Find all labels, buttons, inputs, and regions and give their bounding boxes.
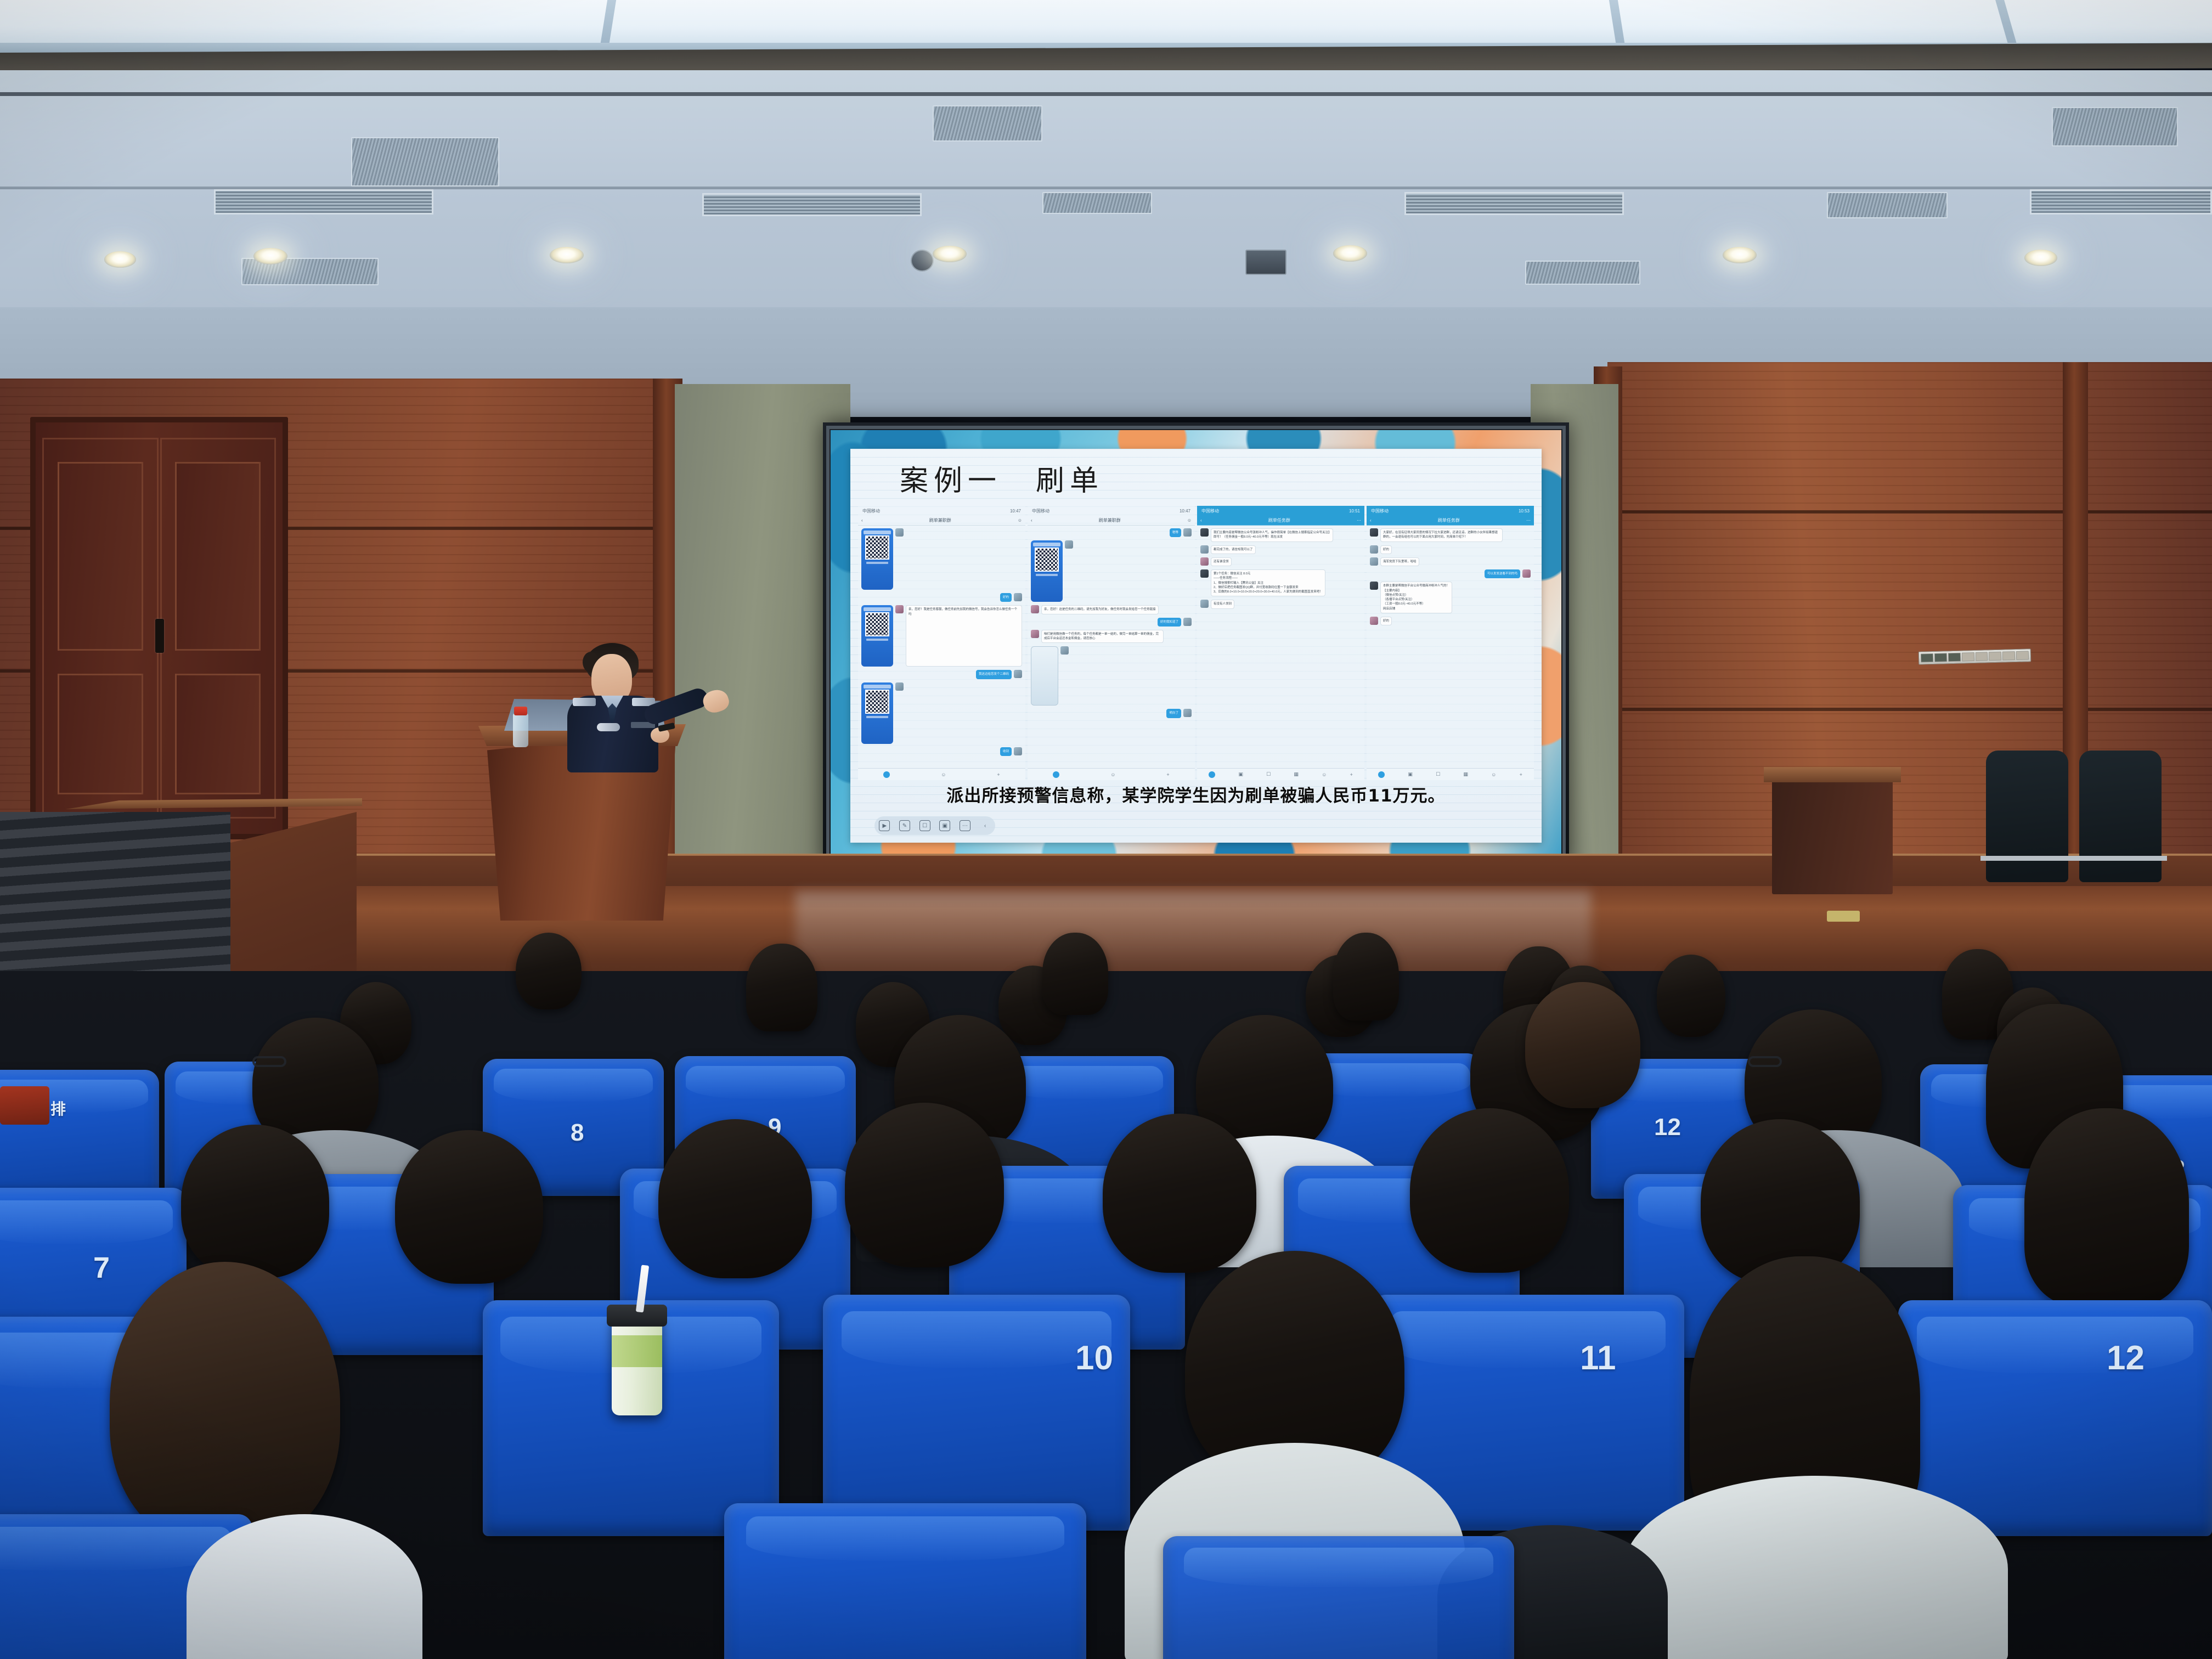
door-panel — [58, 462, 143, 651]
chat-message: 收到 — [861, 747, 1022, 756]
chair-base — [1980, 856, 2074, 861]
stage-chair — [2079, 751, 2162, 882]
door-panel — [175, 674, 261, 794]
chat-input-toolbar[interactable]: ☺ + — [858, 768, 1025, 780]
pen-icon[interactable]: ✎ — [899, 820, 910, 831]
avatar — [1200, 569, 1209, 578]
avatar — [1183, 709, 1192, 717]
hvac-vent — [1042, 192, 1152, 214]
chat-bubble: 本群主要是帮微信平台公众号微商冲粉冲人气的！ 【主要内容】 （微信点赞/关注） … — [1380, 582, 1452, 613]
audience-head — [1410, 1108, 1569, 1273]
chat-bubble: 收到 — [1000, 747, 1012, 756]
chat-bubble: 好的 — [1380, 545, 1392, 554]
audience-head — [1525, 982, 1640, 1108]
ceiling-speaker — [1245, 250, 1286, 275]
phone-status-bar: 中国移动 10:53 — [1367, 506, 1534, 516]
auditorium-seat[interactable] — [724, 1503, 1086, 1659]
avatar — [1065, 540, 1073, 549]
emoji-icon[interactable]: ☺ — [1491, 772, 1496, 777]
chat-message-list: 我们主要内容是帮微信公众号涨粉冲人气，操作很简单【在微信上搜索指定公众号关注】即… — [1197, 526, 1364, 768]
chat-title: 刷单任务群 — [1268, 517, 1290, 523]
carrier-label: 中国移动 — [1032, 508, 1049, 514]
chat-message-list: 稍等 亲，您好！这是任务的二维码，请先加我为好友，做任务时我会发给您一个任务链接 — [1028, 526, 1195, 768]
audience-head — [1333, 933, 1399, 1020]
avatar — [1183, 618, 1192, 626]
switch-key[interactable] — [2002, 651, 2015, 661]
slide-content-card: 案例一 刷单 中国移动 10:47 ‹ 刷单兼职群 ☺ — [850, 449, 1542, 843]
chat-nav-bar: ‹ 刷单兼职群 ☺ — [858, 516, 1025, 526]
aisle-steps — [0, 812, 230, 988]
image-icon[interactable]: ▣ — [1238, 771, 1243, 777]
chat-message: 有没有人领到 — [1200, 600, 1361, 608]
video-icon[interactable]: ▣ — [939, 820, 950, 831]
door-handle[interactable] — [155, 619, 164, 653]
slide-title: 案例一 刷单 — [900, 458, 1104, 499]
chair-base — [2074, 856, 2167, 861]
avatar — [1031, 605, 1039, 613]
avatar — [895, 528, 904, 537]
avatar — [1200, 557, 1209, 566]
play-icon[interactable]: ▶ — [879, 820, 890, 831]
clock-label: 10:47 — [1010, 509, 1021, 513]
chat-input-toolbar[interactable]: ▣ ☐ ▦ ☺ + — [1367, 768, 1534, 780]
chat-bubble: 还有谁没领 — [1211, 557, 1232, 566]
hvac-vent — [1827, 192, 1948, 218]
avatar — [1370, 582, 1378, 590]
ceiling-reveal — [0, 92, 2212, 96]
lecture-hall-scene: 案例一 刷单 中国移动 10:47 ‹ 刷单兼职群 ☺ — [0, 0, 2212, 1659]
chat-message: 好的 — [861, 593, 1022, 602]
avatar — [1200, 600, 1209, 608]
skylight — [0, 0, 2212, 49]
emoji-icon[interactable]: ☺ — [1322, 772, 1327, 777]
chat-title: 刷单任务群 — [1438, 517, 1460, 523]
speaker-police-officer — [549, 625, 691, 768]
audience-head — [181, 1125, 329, 1278]
chat-message: 我们主要内容是帮微信公众号涨粉冲人气，操作很简单【在微信上搜索指定公众号关注】即… — [1200, 528, 1361, 542]
chat-bubble: 我们主要内容是帮微信公众号涨粉冲人气，操作很简单【在微信上搜索指定公众号关注】即… — [1211, 528, 1333, 542]
audience-head — [658, 1119, 812, 1278]
chat-bubble: 好的我知道了 — [1158, 618, 1181, 627]
hvac-return-grille — [214, 189, 433, 215]
plus-icon[interactable]: + — [997, 772, 1000, 777]
chat-screenshot-panel: 中国移动 10:51 ‹ 刷单任务群 ⋯ 我们主要内容是帮微信公众号涨粉冲人气，… — [1197, 506, 1364, 780]
chat-bubble: 好的 — [1380, 617, 1392, 625]
chat-message: 海军党员下队里呀，哈哈 — [1370, 557, 1531, 566]
redpacket-icon[interactable]: ☐ — [1436, 771, 1440, 777]
switch-key[interactable] — [1948, 653, 1961, 662]
cup-label — [612, 1335, 662, 1367]
auditorium-seat[interactable] — [1163, 1536, 1514, 1659]
clock-label: 10:47 — [1180, 509, 1190, 513]
door-leaf-left — [42, 438, 159, 819]
chat-screenshot-panel: 中国移动 10:47 ‹ 刷单兼职群 ☺ 稍等 — [1028, 506, 1195, 780]
emoji-icon[interactable]: ☺ — [1110, 772, 1115, 777]
chat-bubble: 亲，您好！这是任务的二维码，请先加我为好友，做任务时我会发给您一个任务链接 — [1041, 605, 1159, 614]
phone-status-bar: 中国移动 10:47 — [1028, 506, 1195, 516]
chat-nav-bar: ‹ 刷单兼职群 ☺ — [1028, 516, 1195, 526]
redpacket-icon[interactable]: ☐ — [1266, 771, 1271, 777]
side-console-top — [1764, 767, 1901, 782]
ceiling-sprinkler — [911, 250, 934, 272]
more-icon[interactable]: ⋯ — [960, 820, 970, 831]
plus-icon[interactable]: + — [1520, 772, 1522, 777]
chat-title: 刷单兼职群 — [1099, 517, 1121, 523]
avatar — [1200, 545, 1209, 554]
wall-seam — [1607, 510, 2212, 513]
chat-message: 好的 — [1370, 545, 1531, 554]
chat-nav-bar: ‹ 刷单任务群 ⋯ — [1367, 516, 1534, 526]
mic-icon[interactable] — [1378, 771, 1385, 778]
chat-nav-bar: ‹ 刷单任务群 ⋯ — [1197, 516, 1364, 526]
chat-message-list: 好的 亲，您好！我是任务客服，做任务前先加我的微信号，我会告诉你怎么做任务一个吗… — [858, 526, 1025, 768]
switch-key[interactable] — [1921, 653, 1933, 663]
avatar — [1060, 646, 1069, 654]
chat-message: 好的我知道了 — [1031, 618, 1192, 627]
hvac-vent — [933, 105, 1042, 142]
qr-code-card — [861, 682, 893, 744]
back-icon[interactable]: ‹ — [861, 518, 863, 523]
qr-code-image — [865, 612, 889, 636]
clock-label: 10:53 — [1519, 509, 1530, 513]
auditorium-door[interactable] — [30, 417, 288, 839]
chat-message: 都完成了的，请告知我可以了 — [1200, 545, 1361, 554]
switch-key[interactable] — [2016, 651, 2029, 660]
phone-status-bar: 中国移动 10:51 — [1197, 506, 1364, 516]
slide-caption: 派出所接预警信息称，某学院学生因为刷单被骗人民币11万元。 — [850, 782, 1542, 806]
chat-input-toolbar[interactable]: ☺ + — [1028, 768, 1195, 780]
downlight — [2024, 250, 2057, 266]
water-bottle — [513, 713, 528, 747]
floor-debris — [1827, 911, 1860, 922]
door-panel — [58, 674, 143, 794]
chat-message: 大家好，在没有征得大家同意的情况下拉大家进群，还请见谅。进群的小伙伴如果想退群的… — [1370, 528, 1531, 542]
hvac-return-grille — [1404, 192, 1624, 215]
seat-number: 11 — [1580, 1339, 1616, 1378]
hvac-vent — [2052, 107, 2178, 146]
audience-head — [746, 944, 817, 1031]
seat-number: 7 — [93, 1251, 110, 1285]
chat-screenshot-panel: 中国移动 10:53 ‹ 刷单任务群 ⋯ 大家好，在没有征得大家同意的情况下拉大… — [1367, 506, 1534, 780]
stage-chair — [1986, 751, 2068, 882]
mic-icon[interactable] — [1053, 771, 1059, 778]
back-icon[interactable]: ‹ — [1370, 518, 1372, 523]
chat-message: 稍等 — [1031, 528, 1192, 537]
image-icon[interactable]: ▣ — [1408, 771, 1413, 777]
qr-code-card — [861, 605, 893, 667]
qr-code-image — [865, 535, 889, 560]
hvac-return-grille — [702, 193, 922, 216]
eyeglasses — [1748, 1056, 1782, 1067]
chat-message-list: 大家好，在没有征得大家同意的情况下拉大家进群，还请见谅。进群的小伙伴如果想退群的… — [1367, 526, 1534, 768]
accent-seat — [0, 1086, 49, 1125]
avatar — [1522, 569, 1531, 578]
chat-screenshot-panel: 中国移动 10:47 ‹ 刷单兼职群 ☺ — [858, 506, 1025, 780]
chat-message: 亲，您好！我是任务客服，做任务前先加我的微信号，我会告诉你怎么做任务一个吗 — [861, 605, 1022, 667]
chat-message: 好的 — [1370, 617, 1531, 625]
qr-code-image — [865, 690, 889, 714]
downlight — [1333, 245, 1367, 262]
chat-message: 第1个任务：微信关注 8.0元 ——任务流程—— 1、微信搜索栏输入【腾讯公益】… — [1200, 569, 1361, 596]
avatar — [1200, 528, 1209, 537]
avatar — [1370, 528, 1378, 537]
avatar — [1370, 617, 1378, 625]
screenshot-attachment — [1031, 646, 1058, 706]
chat-bubble: 我这边给您发个二维码 — [976, 670, 1012, 679]
plus-icon[interactable]: + — [1166, 772, 1169, 777]
menu-icon[interactable]: ⋯ — [1357, 518, 1361, 523]
pointer-icon[interactable]: ☐ — [919, 820, 930, 831]
clock-label: 10:51 — [1349, 509, 1360, 513]
seat-number: 12 — [1654, 1114, 1681, 1141]
avatar — [1370, 557, 1378, 566]
qr-code-card — [861, 528, 893, 590]
downlight — [1723, 247, 1757, 263]
chat-title: 刷单兼职群 — [929, 517, 951, 523]
audience-shoulders — [1624, 1476, 2008, 1659]
chat-bubble: 都完成了的，请告知我可以了 — [1211, 545, 1256, 554]
switch-key[interactable] — [1934, 653, 1947, 662]
chat-bubble: 亲，您好！我是任务客服，做任务前先加我的微信号，我会告诉你怎么做任务一个吗 — [906, 605, 1022, 667]
carrier-label: 中国移动 — [1371, 508, 1389, 514]
avatar — [1370, 545, 1378, 554]
audience-head — [110, 1262, 340, 1547]
chat-bubble: 第1个任务：微信关注 8.0元 ——任务流程—— 1、微信搜索栏输入【腾讯公益】… — [1211, 569, 1325, 596]
audience-head — [516, 933, 582, 1009]
auditorium-seat[interactable] — [823, 1295, 1130, 1531]
chat-bubble: 明白了 — [1166, 709, 1181, 718]
side-console — [1772, 774, 1893, 894]
plus-icon[interactable]: + — [1350, 772, 1353, 777]
chat-bubble: 咱们是用微信做一个任务的，每个任务都是一单一结的，做完一单结算一单的佣金，完成后… — [1041, 630, 1164, 644]
chat-message: 我这边给您发个二维码 — [861, 670, 1022, 679]
chat-message — [1031, 646, 1192, 706]
switch-key[interactable] — [1989, 652, 2001, 661]
officer-epaulette — [573, 698, 596, 706]
chat-bubble: 稍等 — [1170, 528, 1181, 537]
door-panel — [175, 462, 261, 651]
mic-icon[interactable] — [1209, 771, 1215, 778]
hvac-vent — [351, 137, 499, 187]
seat-number: 12 — [2107, 1339, 2145, 1378]
switch-key[interactable] — [1975, 652, 1988, 661]
phone-status-bar: 中国移动 10:47 — [858, 506, 1025, 516]
officer-badge — [597, 723, 620, 731]
downlight — [104, 251, 136, 268]
avatar — [1031, 630, 1039, 638]
chat-bubble: 好的 — [1000, 593, 1012, 602]
presentation-slide: 案例一 刷单 中国移动 10:47 ‹ 刷单兼职群 ☺ — [831, 430, 1561, 859]
chat-message: 可以发发送看不到的吗 — [1370, 569, 1531, 578]
avatar — [1014, 670, 1022, 678]
drink-cup — [612, 1317, 662, 1415]
audience-head — [1103, 1114, 1256, 1273]
card-icon[interactable]: ▦ — [1294, 771, 1299, 777]
switch-key[interactable] — [1961, 652, 1974, 662]
profile-icon[interactable]: ☺ — [1187, 518, 1192, 523]
avatar — [895, 605, 904, 613]
chat-message — [861, 528, 1022, 590]
chat-message: 本群主要是帮微信平台公众号微商冲粉冲人气的！ 【主要内容】 （微信点赞/关注） … — [1370, 582, 1531, 613]
audience-head — [1657, 955, 1725, 1037]
back-icon[interactable]: ‹ — [1200, 518, 1202, 523]
bottle-cap — [514, 707, 527, 715]
avatar — [895, 682, 904, 691]
avatar — [1014, 593, 1022, 601]
chat-message: 明白了 — [1031, 709, 1192, 718]
chat-input-toolbar[interactable]: ▣ ☐ ▦ ☺ + — [1197, 768, 1364, 780]
wall-seam — [1607, 708, 2212, 711]
door-leaf-right — [160, 438, 276, 819]
avatar — [1183, 528, 1192, 537]
audience-head — [845, 1103, 1004, 1267]
audience-head — [1042, 933, 1108, 1015]
chat-bubble: 可以发发送看不到的吗 — [1485, 569, 1520, 578]
menu-icon[interactable]: ⋯ — [1526, 518, 1531, 523]
hvac-return-grille — [2030, 189, 2212, 215]
chat-message: 咱们是用微信做一个任务的，每个任务都是一单一结的，做完一单结算一单的佣金，完成后… — [1031, 630, 1192, 644]
carrier-label: 中国移动 — [862, 508, 880, 514]
presentation-toolbar[interactable]: ▶ ✎ ☐ ▣ ⋯ ‹ — [874, 816, 995, 835]
mic-icon[interactable] — [883, 771, 890, 778]
back-icon[interactable]: ‹ — [1031, 518, 1032, 523]
chat-message — [861, 682, 1022, 744]
downlight — [253, 248, 287, 264]
hvac-vent — [1525, 261, 1640, 285]
chat-message: 亲，您好！这是任务的二维码，请先加我为好友，做任务时我会发给您一个任务链接 — [1031, 605, 1192, 614]
collapse-icon[interactable]: ‹ — [980, 820, 991, 831]
qr-code-image — [1035, 548, 1059, 572]
qr-code-card — [1031, 540, 1063, 602]
avatar — [1014, 747, 1022, 755]
downlight — [933, 246, 967, 262]
chat-message: 还有谁没领 — [1200, 557, 1361, 566]
chat-bubble: 大家好，在没有征得大家同意的情况下拉大家进群，还请见谅。进群的小伙伴如果想退群的… — [1380, 528, 1503, 542]
audience-head — [2024, 1108, 2189, 1306]
emoji-icon[interactable]: ☺ — [941, 772, 946, 777]
chat-bubble: 海军党员下队里呀，哈哈 — [1380, 557, 1419, 566]
chat-bubble: 有没有人领到 — [1211, 600, 1234, 608]
seat-number: 10 — [1075, 1339, 1113, 1378]
card-icon[interactable]: ▦ — [1463, 771, 1468, 777]
seat-number: 8 — [571, 1119, 584, 1147]
carrier-label: 中国移动 — [1201, 508, 1219, 514]
eyeglasses — [252, 1056, 286, 1067]
chat-message — [1031, 540, 1192, 602]
profile-icon[interactable]: ☺ — [1018, 518, 1022, 523]
downlight — [550, 247, 584, 263]
chat-screenshot-row: 中国移动 10:47 ‹ 刷单兼职群 ☺ — [858, 506, 1534, 780]
audience-head — [395, 1130, 543, 1284]
